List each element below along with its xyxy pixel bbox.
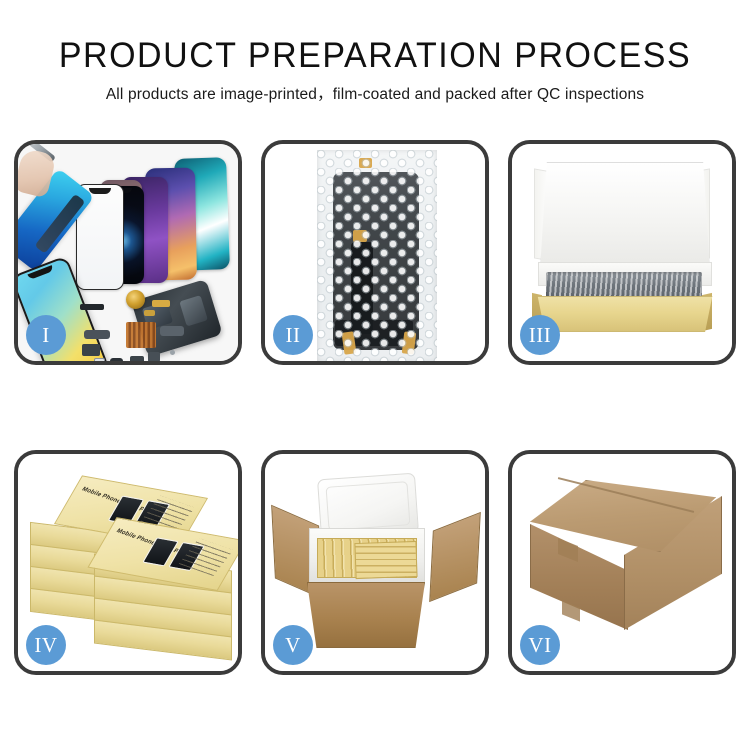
component-battery-connector	[130, 356, 144, 361]
carton-front-panel	[307, 582, 425, 648]
packed-gold-boxes-row-2	[354, 541, 417, 579]
component-flex-cable-1	[84, 330, 110, 339]
mailer-open-lid	[540, 162, 710, 270]
process-step-panel-6[interactable]: VI	[508, 450, 736, 675]
process-step-panel-2[interactable]: II	[261, 140, 489, 365]
step-badge-4: IV	[26, 625, 66, 665]
step-badge-6: VI	[520, 625, 560, 665]
component-earpiece-bar	[80, 304, 104, 310]
step-badge-1: I	[26, 315, 66, 355]
page-subtitle: All products are image-printed，film-coat…	[0, 86, 750, 103]
component-camera-module	[110, 358, 123, 361]
component-screw-1	[170, 350, 175, 355]
component-flex-cable-3	[160, 326, 184, 336]
component-gold-contact-1	[152, 300, 170, 307]
step-badge-2: II	[273, 315, 313, 355]
process-step-grid: I II	[14, 140, 736, 675]
bubble-wrap-bag	[317, 150, 437, 361]
bubble-texture	[317, 150, 437, 361]
process-step-panel-1[interactable]: I	[14, 140, 242, 365]
component-speaker	[148, 352, 160, 361]
mailer-yellow-base	[534, 296, 716, 332]
page-title: PRODUCT PREPARATION PROCESS	[11, 38, 739, 73]
process-step-panel-3[interactable]: III	[508, 140, 736, 365]
component-gold-contact-2	[144, 310, 155, 316]
component-flex-cable-2	[82, 344, 100, 356]
process-step-panel-5[interactable]: V	[261, 450, 489, 675]
component-sim-tray	[94, 358, 105, 361]
component-coil	[126, 290, 145, 309]
step-badge-5: V	[273, 625, 313, 665]
process-step-panel-4[interactable]: Mobile Phone Spare Parts Mobile Phone Sp…	[14, 450, 242, 675]
component-chip-grid	[126, 322, 156, 348]
page-header: PRODUCT PREPARATION PROCESS All products…	[0, 0, 750, 103]
step-badge-3: III	[520, 315, 560, 355]
